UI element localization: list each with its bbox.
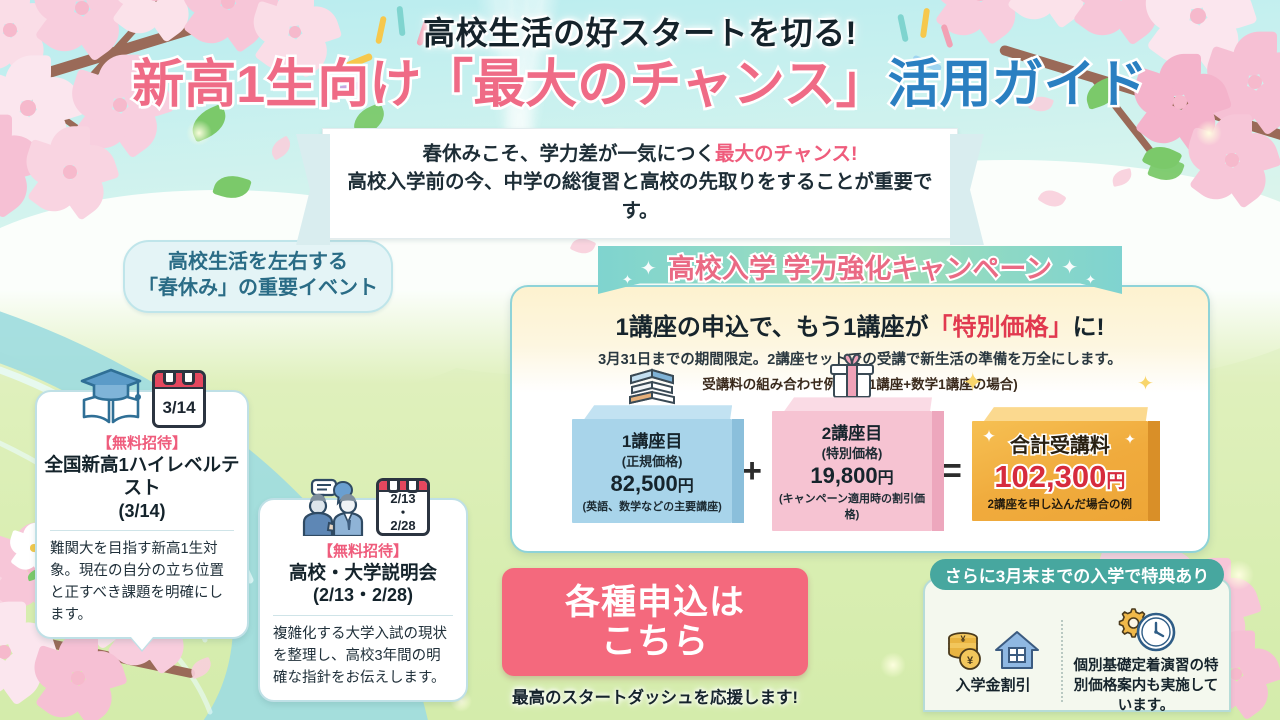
apply-cta-button[interactable]: 各種申込は こちら [502,568,808,676]
event-1-divider [50,530,234,531]
price-box-total-top-face [984,407,1148,421]
price-box-2-title: 2講座目 [778,419,926,444]
ribbon-line-2: 高校入学前の今、中学の総復習と高校の先取りをすることが重要です。 [341,168,939,225]
event-1-name-text: 全国新高1ハイレベルテスト [45,454,240,498]
price-box-total-yen: 円 [1106,471,1125,492]
price-box-1-title: 1講座目 [578,427,726,452]
calendar-top-bar [155,373,203,389]
left-section-title: 高校生活を左右する 「春休み」の重要イベント [123,240,393,313]
price-box-2-amount: 19,800 [810,463,877,488]
price-box-1-subtitle: (正規価格) [578,451,726,470]
bonus-item-basic-drill: 個別基礎定着演習の特別価格案内も実施しています。 [1063,608,1229,714]
price-box-2-subtitle: (特別価格) [778,443,926,462]
price-box-total-front-face: ✦ ✦ 合計受講料 102,300円 2講座を申し込んだ場合の例 [972,421,1148,521]
price-box-total-side-face [1148,421,1160,521]
cta-subtext: 最高のスタートダッシュを応援します! [495,684,815,708]
bonus-panel-heading: さらに3月末までの入学で特典あり [930,559,1224,590]
cta-line-2: こちら [601,622,709,661]
house-icon [994,628,1040,670]
bonus-heading-text: さらに3月末までの入学で特典あり [945,562,1209,587]
ribbon-highlight: 最大のチャンス! [715,143,857,165]
event-card-school-briefing[interactable]: 2/13 ・ 2/28 【無料招待】 高校・大学説明会 (2/13・2/28) … [258,498,468,702]
price-box-1-yen: 円 [678,478,694,495]
bonus-panel: ¥ ¥ 入学金割引 [923,578,1231,712]
gear-clock-icon [1115,605,1177,653]
price-box-2-side-face [932,411,944,530]
ribbon-tail-left [296,134,330,245]
event-card-1-icons: 3/14 [37,358,247,428]
price-box-course-2: 2講座目 (特別価格) 19,800円 (キャンペーン適用時の割引価格) [772,397,932,530]
sparkle-icon: ✦ [1061,255,1078,280]
event-2-name-text: 高校・大学説明会 [289,562,437,583]
price-box-1-side-face [732,419,744,522]
price-box-1-amount: 82,500 [610,471,677,496]
price-box-2-note: (キャンペーン適用時の割引価格) [778,490,926,522]
price-box-1-front-face: 1講座目 (正規価格) 82,500円 (英語、数学などの主要講座) [572,419,732,522]
price-box-2-price: 19,800円 [778,463,926,488]
price-box-total-title: 合計受講料 [978,429,1142,458]
svg-text:¥: ¥ [967,655,974,667]
event-2-free-badge: 【無料招待】 [260,540,466,561]
price-box-total-note: 2講座を申し込んだ場合の例 [978,496,1142,512]
ribbon-line-1: 春休みこそ、学力差が一気につく最大のチャンス! [341,140,939,168]
sparkle-icon: ✦ [622,272,633,288]
price-box-1-top-face [584,405,732,419]
poster-canvas: 高校生活の好スタートを切る! 新高1生向け「最大のチャンス」活用ガイド 春休みこ… [0,0,1280,720]
event-card-2-icons: 2/13 ・ 2/28 [260,466,466,536]
header-line-1: 高校生活の好スタートを切る! [0,8,1280,54]
bonus-panel-body: ¥ ¥ 入学金割引 [925,608,1229,714]
books-icon [622,361,682,407]
price-box-1-price: 82,500円 [578,471,726,496]
bonus-item-2-label: 個別基礎定着演習の特別価格案内も実施しています。 [1069,657,1223,716]
price-box-total-price: 102,300円 [978,459,1142,495]
event-2-divider [273,615,453,616]
event-2-date: (2/13・2/28) [260,584,466,607]
gift-icon [826,353,878,399]
event-1-pointer [131,637,153,650]
subtitle-ribbon: 春休みこそ、学力差が一気につく最大のチャンス! 高校入学前の今、中学の総復習と高… [322,128,958,239]
ribbon-tail-right [950,134,984,245]
graduation-cap-book-icon [78,366,144,428]
event-1-date: (3/14) [37,500,247,523]
event-1-description: 難関大を目指す新高1生対象。現在の自分の立ち位置と正すべき課題を明確にします。 [37,538,247,637]
bonus-item-1-label: 入学金割引 [955,676,1030,696]
bonus-item-admission-discount: ¥ ¥ 入学金割引 [925,608,1061,714]
left-section-title-line-1: 高校生活を左右する [135,249,381,275]
price-box-2-front-face: 2講座目 (特別価格) 19,800円 (キャンペーン適用時の割引価格) [772,411,932,530]
price-boxes-row: 1講座目 (正規価格) 82,500円 (英語、数学などの主要講座) + [512,399,1208,529]
event-2-name: 高校・大学説明会 (2/13・2/28) [260,561,466,607]
header-line-2: 新高1生向け「最大のチャンス」活用ガイド [0,56,1280,114]
event-card-hilevel-test[interactable]: 3/14 【無料招待】 全国新高1ハイレベルテスト (3/14) 難関大を目指す… [35,390,249,639]
campaign-panel: 1講座の申込で、もう1講座が「特別価格」に! 3月31日までの期間限定。2講座セ… [510,285,1210,553]
campaign-headline: 1講座の申込で、もう1講座が「特別価格」に! [512,307,1208,342]
cta-line-1: 各種申込は [565,583,745,622]
coins-house-icon: ¥ ¥ [946,626,992,670]
price-box-total: ✦ ✦ ✦ ✦ 合計受講料 102,300円 2講座を申し込んだ場合の例 [972,407,1148,521]
ribbon-body: 春休みこそ、学力差が一気につく最大のチャンス! 高校入学前の今、中学の総復習と高… [322,128,958,239]
svg-text:¥: ¥ [960,634,965,644]
event-1-free-badge: 【無料招待】 [37,432,247,453]
calendar-icon-event-2: 2/13 ・ 2/28 [376,478,430,536]
campaign-headline-b: に! [1073,314,1105,341]
ribbon-line-1-text: 春休みこそ、学力差が一気につく [423,143,716,165]
campaign-headline-highlight: 「特別価格」 [929,314,1073,341]
people-discussion-icon [296,478,368,536]
poster-header: 高校生活の好スタートを切る! 新高1生向け「最大のチャンス」活用ガイド [0,8,1280,114]
campaign-headline-a: 1講座の申込で、もう1講座が [615,314,928,341]
left-section-title-line-2: 「春休み」の重要イベント [135,275,381,301]
price-box-2-yen: 円 [878,470,894,487]
calendar-date-event-1: 3/14 [155,389,203,425]
calendar-date-event-2: 2/13 ・ 2/28 [379,492,427,533]
price-box-1-note: (英語、数学などの主要講座) [578,498,726,514]
event-1-name: 全国新高1ハイレベルテスト (3/14) [37,453,247,522]
calendar-icon-event-1: 3/14 [152,370,206,428]
price-box-2-top-face [784,397,932,411]
header-line-2-blue: 活用ガイド [888,56,1148,114]
price-box-total-amount: 102,300 [994,459,1106,494]
header-line-2-pink: 新高1生向け「最大のチャンス」 [132,56,887,114]
price-box-course-1: 1講座目 (正規価格) 82,500円 (英語、数学などの主要講座) [572,405,732,522]
event-2-description: 複雑化する大学入試の現状を整理し、高校3年間の明確な指針をお伝えします。 [260,623,466,700]
calendar-top-bar [379,481,427,492]
sparkle-icon: ✦ [640,256,657,281]
